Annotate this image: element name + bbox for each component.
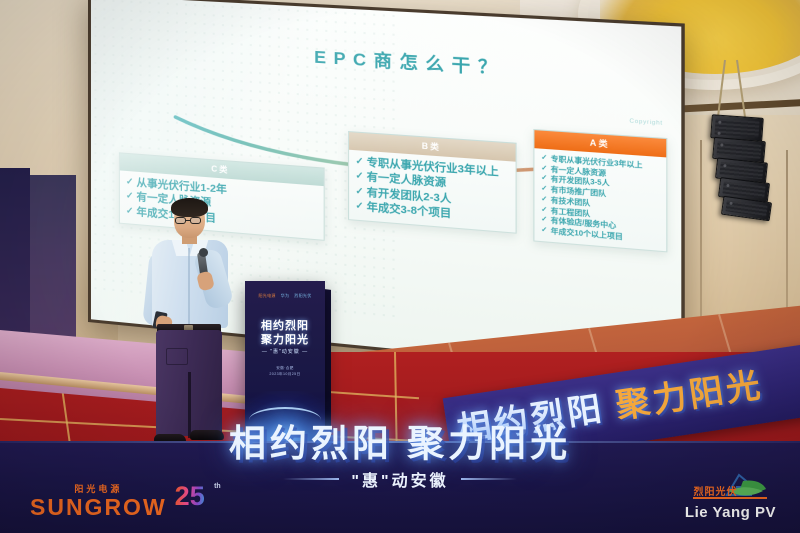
- presenter-pocket: [166, 348, 188, 365]
- podium-meta: 安徽·合肥 2023年10月25日: [245, 365, 325, 377]
- microphone-head-icon: [199, 248, 208, 257]
- slide-card-b: B类 ✓专职从事光伏行业3年以上 ✓有一定人脉资源 ✓有开发团队2-3人 ✓年成…: [348, 131, 517, 233]
- anniversary-badge: 25 th: [175, 481, 221, 519]
- check-icon: ✓: [355, 200, 363, 212]
- presenter-hair: [171, 198, 208, 217]
- house-leaf-icon: 烈阳光伏: [693, 473, 767, 503]
- sungrow-logo: 阳光电源 SUNGROW 25 th: [30, 481, 221, 519]
- podium-subtitle: — "惠"动安徽 —: [245, 348, 325, 355]
- banner-main-title: 相约烈阳 聚力阳光: [0, 413, 800, 467]
- anniversary-suffix: th: [214, 483, 221, 490]
- sungrow-wordmark: 阳光电源 SUNGROW: [30, 482, 167, 519]
- lieyang-en-name: Lie Yang PV: [685, 504, 776, 521]
- check-icon: ✓: [541, 154, 547, 163]
- check-icon: ✓: [355, 155, 363, 167]
- check-icon: ✓: [541, 216, 547, 225]
- banner-subtitle: "惠"动安徽: [351, 467, 448, 491]
- check-icon: ✓: [355, 170, 363, 182]
- card-b-body: ✓专职从事光伏行业3年以上 ✓有一定人脉资源 ✓有开发团队2-3人 ✓年成交3-…: [349, 150, 515, 233]
- check-icon: ✓: [541, 175, 547, 184]
- podium-logo-sungrow: 阳光电源: [258, 293, 275, 299]
- lieyang-underline: [693, 497, 767, 499]
- check-icon: ✓: [541, 195, 547, 204]
- lieyang-logo: 烈阳光伏 Lie Yang PV: [685, 473, 776, 521]
- podium-logo-lieyang: 烈阳光伏: [294, 293, 311, 299]
- check-icon: ✓: [541, 226, 547, 235]
- slide-card-a: A类 ✓专职从事光伏行业3年以上 ✓有一定人脉资源 ✓有开发团队3-5人 ✓有市…: [533, 129, 667, 252]
- glasses-bridge: [186, 220, 190, 221]
- check-icon: ✓: [541, 206, 547, 215]
- anniversary-number: 25: [175, 483, 205, 510]
- glasses-icon: [175, 217, 186, 224]
- check-icon: ✓: [126, 176, 134, 187]
- check-icon: ✓: [541, 164, 547, 173]
- podium-logo-partner: 华为: [281, 293, 290, 299]
- check-icon: ✓: [355, 185, 363, 197]
- slide-corner-note: Copyright: [630, 118, 663, 127]
- conference-photo: EPC商怎么干？ Copyright C类 ✓从事光伏行业1-2年: [0, 0, 800, 533]
- check-icon: ✓: [126, 190, 134, 201]
- banner-rule-right: [461, 478, 517, 480]
- bottom-banner: 相约烈阳 聚力阳光 "惠"动安徽 阳光电源 SUNGROW 25 th: [0, 441, 800, 533]
- glasses-icon: [190, 217, 201, 224]
- check-icon: ✓: [541, 185, 547, 194]
- lieyang-cn-name: 烈阳光伏: [693, 483, 737, 498]
- podium-headline-line2: 聚力阳光: [245, 331, 325, 347]
- presenter-shirt-placket: [188, 248, 190, 324]
- sungrow-en-name: SUNGROW: [30, 496, 167, 519]
- podium-logo-row: 阳光电源 华为 烈阳光伏: [245, 293, 325, 299]
- banner-rule-left: [283, 478, 339, 480]
- check-icon: ✓: [126, 205, 134, 216]
- podium-meta-date: 2023年10月25日: [245, 371, 325, 377]
- card-a-body: ✓专职从事光伏行业3年以上 ✓有一定人脉资源 ✓有开发团队3-5人 ✓有市场推广…: [534, 148, 666, 251]
